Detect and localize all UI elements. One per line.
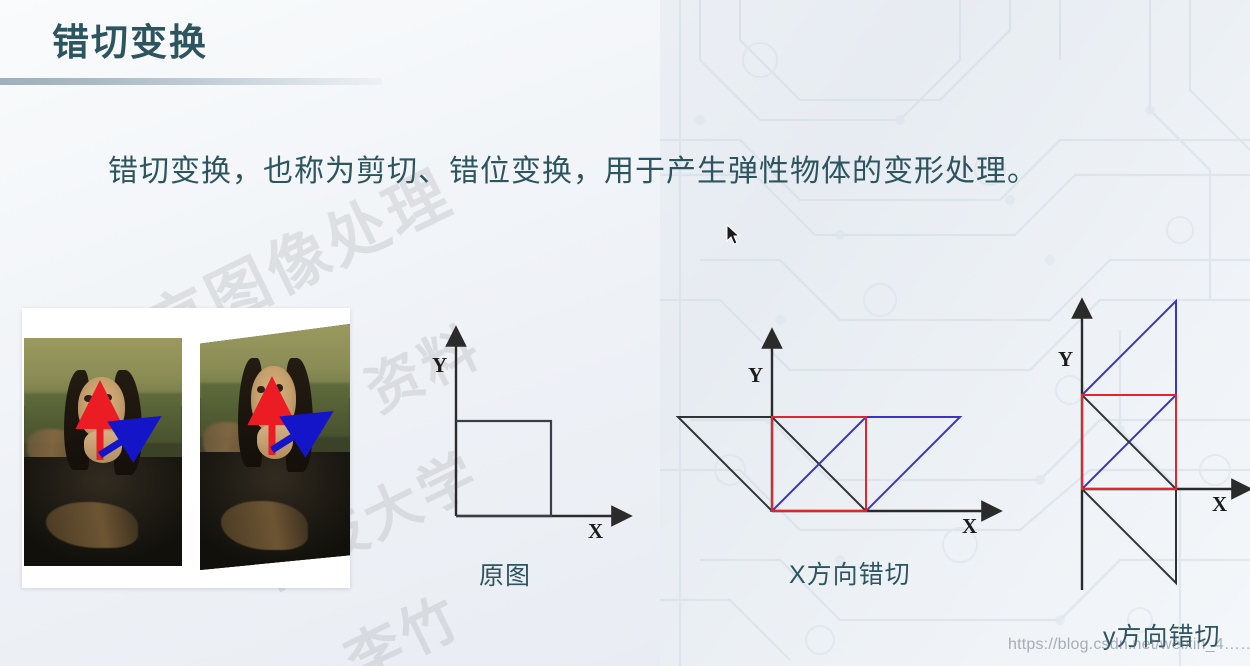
figure-x-shear-caption: X方向错切	[789, 555, 911, 591]
mona-lisa-original-image	[24, 338, 182, 566]
x-axis-label: X	[1212, 492, 1227, 516]
painting-eye-right	[275, 384, 283, 392]
slide-canvas: 错切变换 错切变换，也称为剪切、错位变换，用于产生弹性物体的变形处理。 北京图像…	[0, 0, 1250, 666]
figure-y-shear-diagram: X Y	[1040, 290, 1250, 610]
painting-eye-right	[103, 394, 112, 401]
title-underline-rule	[0, 78, 382, 85]
figure-original-caption: 原图	[479, 556, 531, 592]
y-axis-label: Y	[432, 353, 447, 377]
x-axis-label: X	[588, 519, 603, 543]
painting-eye-left	[84, 395, 93, 402]
mona-lisa-sheared-image	[200, 324, 350, 570]
lead-paragraph: 错切变换，也称为剪切、错位变换，用于产生弹性物体的变形处理。	[108, 146, 1038, 190]
watermark-line-4: 李竹	[330, 572, 473, 666]
figure-x-shear-diagram: X Y	[660, 330, 1000, 540]
page-title: 错切变换	[52, 12, 208, 66]
y-axis-label: Y	[748, 363, 763, 387]
figure-original-diagram: X Y	[420, 320, 640, 540]
painting-face	[251, 366, 296, 432]
mona-lisa-card	[22, 308, 350, 588]
unit-square	[456, 421, 551, 516]
y-axis-label: Y	[1058, 347, 1073, 371]
x-axis-label: X	[962, 514, 977, 538]
painting-face	[78, 377, 125, 439]
mouse-cursor-icon	[726, 224, 742, 246]
csdn-url-watermark: https://blog.csdn.net/weixin_4……的博客	[1008, 630, 1250, 654]
